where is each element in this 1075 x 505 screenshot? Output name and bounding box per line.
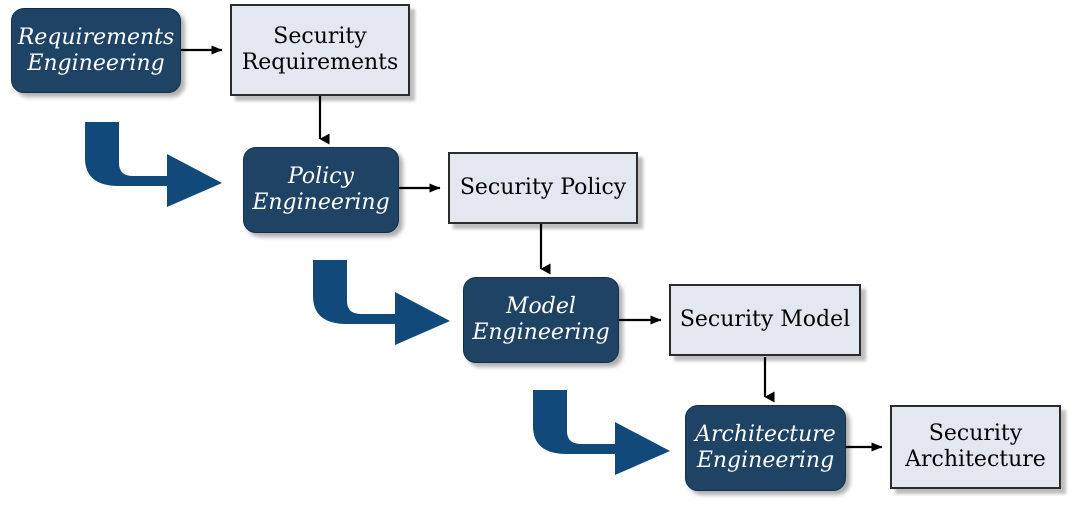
node-label: Security Requirements: [232, 24, 408, 76]
node-label: Architecture Engineering: [686, 422, 845, 474]
node-security-requirements[interactable]: Security Requirements: [230, 4, 410, 96]
node-security-architecture[interactable]: Security Architecture: [890, 405, 1061, 489]
security-engineering-diagram: Requirements Engineering Security Requir…: [0, 0, 1075, 505]
node-label: Security Architecture: [892, 421, 1059, 473]
node-label: Policy Engineering: [244, 164, 398, 216]
node-security-model[interactable]: Security Model: [669, 284, 861, 356]
node-label: Requirements Engineering: [12, 25, 180, 77]
node-label: Security Policy: [450, 175, 636, 201]
node-label: Security Model: [671, 307, 859, 333]
stage-arrow-2-icon: [313, 260, 450, 345]
node-architecture-engineering[interactable]: Architecture Engineering: [685, 405, 846, 491]
node-model-engineering[interactable]: Model Engineering: [463, 277, 619, 363]
stage-arrow-3-icon: [533, 390, 670, 475]
node-label: Model Engineering: [464, 294, 618, 346]
stage-arrow-1-icon: [85, 122, 222, 207]
node-requirements-engineering[interactable]: Requirements Engineering: [11, 8, 181, 93]
node-policy-engineering[interactable]: Policy Engineering: [243, 147, 399, 233]
node-security-policy[interactable]: Security Policy: [448, 152, 638, 224]
